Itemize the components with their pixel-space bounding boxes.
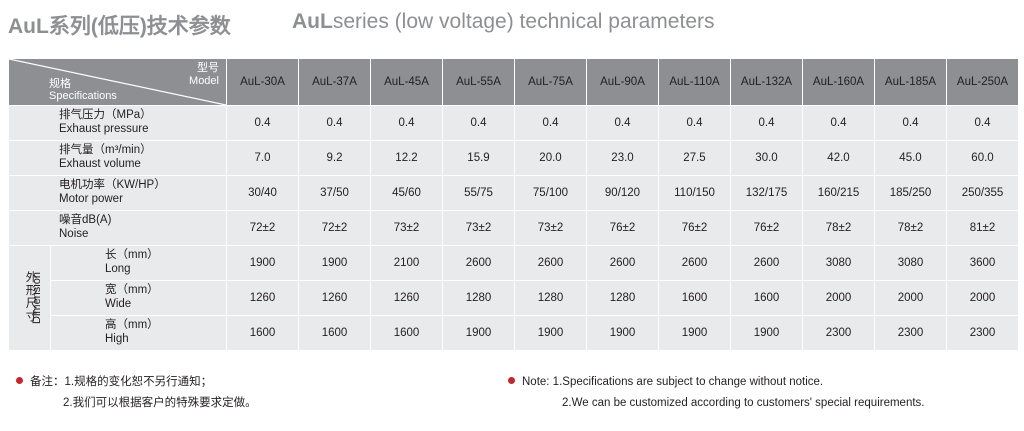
note-text-cn-2: 2.我们可以根据客户的特殊要求定做。 — [63, 397, 257, 409]
row-label-exhaust-volume: 排气量（m³/min） Exhaust volume — [9, 141, 227, 176]
row-label-en: Exhaust volume — [59, 158, 226, 172]
cell-value: 2300 — [875, 316, 947, 351]
cell-value: 1600 — [227, 316, 299, 351]
bullet-icon — [508, 377, 515, 384]
cell-value: 1900 — [227, 246, 299, 281]
cell-value: 1280 — [587, 281, 659, 316]
table-row: 宽（mm） Wide 1260 1260 1260 1280 1280 1280… — [9, 281, 1019, 316]
cell-value: 72±2 — [227, 211, 299, 246]
cell-value: 75/100 — [515, 176, 587, 211]
row-label-cn: 宽（mm） — [105, 284, 226, 298]
row-label-noise: 噪音dB(A) Noise — [9, 211, 227, 246]
cell-value: 3080 — [875, 246, 947, 281]
cell-value: 45.0 — [875, 141, 947, 176]
table-row: 高（mm） High 1600 1600 1600 1900 1900 1900… — [9, 316, 1019, 351]
cell-value: 30/40 — [227, 176, 299, 211]
cell-value: 0.4 — [659, 106, 731, 141]
table-row: 排气压力（MPa） Exhaust pressure 0.4 0.4 0.4 0… — [9, 106, 1019, 141]
dimension-label-en: Dimension — [31, 272, 43, 324]
cell-value: 1900 — [443, 316, 515, 351]
cell-value: 2600 — [731, 246, 803, 281]
cell-value: 20.0 — [515, 141, 587, 176]
note-text-en-2: 2.We can be customized according to cust… — [562, 397, 925, 409]
cell-value: 78±2 — [803, 211, 875, 246]
cell-value: 1260 — [371, 281, 443, 316]
row-label-motor-power: 电机功率（KW/HP） Motor power — [9, 176, 227, 211]
cell-value: 73±2 — [443, 211, 515, 246]
header-model-2: AuL-45A — [371, 59, 443, 106]
cell-value: 1260 — [227, 281, 299, 316]
header-spec-cn: 规格 — [49, 78, 117, 91]
notes-cn: 备注：1.规格的变化恕不另行通知； 2.我们可以根据客户的特殊要求定做。 — [16, 372, 456, 414]
row-label-cn: 排气量（m³/min） — [59, 144, 226, 158]
row-label-high: 高（mm） High — [51, 316, 227, 351]
page-title-en-brand: AuL — [292, 10, 333, 33]
cell-value: 23.0 — [587, 141, 659, 176]
cell-value: 1900 — [587, 316, 659, 351]
row-label-en: Long — [105, 263, 226, 277]
cell-value: 1280 — [515, 281, 587, 316]
cell-value: 0.4 — [515, 106, 587, 141]
row-label-en: High — [105, 333, 226, 347]
page-root: AuL系列(低压)技术参数 AuLseries (low voltage) te… — [0, 0, 1024, 431]
header-corner-cell: 型号 Model 规格 Specifications — [9, 59, 227, 106]
cell-value: 2300 — [803, 316, 875, 351]
table-row: 噪音dB(A) Noise 72±2 72±2 73±2 73±2 73±2 7… — [9, 211, 1019, 246]
cell-value: 0.4 — [947, 106, 1019, 141]
header-model-6: AuL-110A — [659, 59, 731, 106]
row-label-en: Motor power — [59, 193, 226, 207]
header-model-1: AuL-37A — [299, 59, 371, 106]
table-row: 排气量（m³/min） Exhaust volume 7.0 9.2 12.2 … — [9, 141, 1019, 176]
header-model-9: AuL-185A — [875, 59, 947, 106]
row-label-cn: 排气压力（MPa） — [59, 109, 226, 123]
cell-value: 81±2 — [947, 211, 1019, 246]
cell-value: 1280 — [443, 281, 515, 316]
cell-value: 2000 — [947, 281, 1019, 316]
cell-value: 1900 — [731, 316, 803, 351]
cell-value: 250/355 — [947, 176, 1019, 211]
cell-value: 1600 — [659, 281, 731, 316]
cell-value: 42.0 — [803, 141, 875, 176]
cell-value: 76±2 — [587, 211, 659, 246]
cell-value: 0.4 — [587, 106, 659, 141]
cell-value: 30.0 — [731, 141, 803, 176]
row-label-long: 长（mm） Long — [51, 246, 227, 281]
cell-value: 90/120 — [587, 176, 659, 211]
cell-value: 45/60 — [371, 176, 443, 211]
row-label-cn: 高（mm） — [105, 319, 226, 333]
cell-value: 78±2 — [875, 211, 947, 246]
cell-value: 76±2 — [731, 211, 803, 246]
cell-value: 60.0 — [947, 141, 1019, 176]
header-model-5: AuL-90A — [587, 59, 659, 106]
dimension-group-label: Dimension 外形尺寸 — [9, 246, 51, 351]
header-model-label: 型号 Model — [189, 62, 219, 87]
cell-value: 2600 — [443, 246, 515, 281]
cell-value: 2100 — [371, 246, 443, 281]
cell-value: 2000 — [875, 281, 947, 316]
table-row: Dimension 外形尺寸 长（mm） Long 1900 1900 2100… — [9, 246, 1019, 281]
header-model-cn: 型号 — [189, 62, 219, 75]
cell-value: 3600 — [947, 246, 1019, 281]
cell-value: 185/250 — [875, 176, 947, 211]
page-title-en: AuLseries (low voltage) technical parame… — [292, 10, 715, 34]
table-header-row: 型号 Model 规格 Specifications AuL-30A AuL-3… — [9, 59, 1019, 106]
page-title-cn: AuL系列(低压)技术参数 — [8, 10, 231, 40]
cell-value: 15.9 — [443, 141, 515, 176]
table-row: 电机功率（KW/HP） Motor power 30/40 37/50 45/6… — [9, 176, 1019, 211]
note-line-en-1: Note: 1.Specifications are subject to ch… — [508, 372, 1024, 393]
cell-value: 160/215 — [803, 176, 875, 211]
note-text-cn-1: 备注：1.规格的变化恕不另行通知； — [30, 376, 212, 388]
row-label-wide: 宽（mm） Wide — [51, 281, 227, 316]
row-label-exhaust-pressure: 排气压力（MPa） Exhaust pressure — [9, 106, 227, 141]
cell-value: 0.4 — [803, 106, 875, 141]
row-label-en: Exhaust pressure — [59, 123, 226, 137]
cell-value: 0.4 — [443, 106, 515, 141]
cell-value: 37/50 — [299, 176, 371, 211]
cell-value: 55/75 — [443, 176, 515, 211]
cell-value: 1600 — [371, 316, 443, 351]
note-line-en-2: 2.We can be customized according to cust… — [508, 393, 1024, 414]
cell-value: 76±2 — [659, 211, 731, 246]
header-spec-en: Specifications — [49, 90, 117, 103]
cell-value: 110/150 — [659, 176, 731, 211]
row-label-cn: 电机功率（KW/HP） — [59, 179, 226, 193]
note-text-en-1: Note: 1.Specifications are subject to ch… — [522, 376, 823, 388]
cell-value: 73±2 — [515, 211, 587, 246]
page-title: AuL系列(低压)技术参数 AuLseries (low voltage) te… — [8, 10, 1016, 44]
note-line-cn-1: 备注：1.规格的变化恕不另行通知； — [16, 372, 456, 393]
cell-value: 0.4 — [731, 106, 803, 141]
cell-value: 2000 — [803, 281, 875, 316]
cell-value: 72±2 — [299, 211, 371, 246]
header-model-0: AuL-30A — [227, 59, 299, 106]
header-model-10: AuL-250A — [947, 59, 1019, 106]
cell-value: 2300 — [947, 316, 1019, 351]
row-label-cn: 噪音dB(A) — [59, 214, 226, 228]
cell-value: 0.4 — [227, 106, 299, 141]
cell-value: 0.4 — [299, 106, 371, 141]
notes-en: Note: 1.Specifications are subject to ch… — [508, 372, 1024, 414]
cell-value: 1900 — [299, 246, 371, 281]
row-label-en: Noise — [59, 228, 226, 242]
bullet-icon — [16, 377, 23, 384]
header-spec-label: 规格 Specifications — [49, 78, 117, 103]
cell-value: 2600 — [587, 246, 659, 281]
header-model-en: Model — [189, 75, 219, 88]
cell-value: 1600 — [299, 316, 371, 351]
header-model-7: AuL-132A — [731, 59, 803, 106]
cell-value: 2600 — [515, 246, 587, 281]
row-label-cn: 长（mm） — [105, 249, 226, 263]
cell-value: 1900 — [515, 316, 587, 351]
cell-value: 27.5 — [659, 141, 731, 176]
cell-value: 9.2 — [299, 141, 371, 176]
cell-value: 73±2 — [371, 211, 443, 246]
header-model-8: AuL-160A — [803, 59, 875, 106]
header-model-4: AuL-75A — [515, 59, 587, 106]
note-line-cn-2: 2.我们可以根据客户的特殊要求定做。 — [16, 393, 456, 414]
cell-value: 12.2 — [371, 141, 443, 176]
spec-table-wrap: 型号 Model 规格 Specifications AuL-30A AuL-3… — [8, 58, 1016, 351]
cell-value: 1600 — [731, 281, 803, 316]
cell-value: 3080 — [803, 246, 875, 281]
cell-value: 1900 — [659, 316, 731, 351]
cell-value: 7.0 — [227, 141, 299, 176]
cell-value: 0.4 — [371, 106, 443, 141]
header-model-3: AuL-55A — [443, 59, 515, 106]
spec-table: 型号 Model 规格 Specifications AuL-30A AuL-3… — [8, 58, 1019, 351]
cell-value: 132/175 — [731, 176, 803, 211]
row-label-en: Wide — [105, 298, 226, 312]
cell-value: 2600 — [659, 246, 731, 281]
cell-value: 0.4 — [875, 106, 947, 141]
cell-value: 1260 — [299, 281, 371, 316]
page-title-en-rest: series (low voltage) technical parameter… — [333, 10, 715, 33]
